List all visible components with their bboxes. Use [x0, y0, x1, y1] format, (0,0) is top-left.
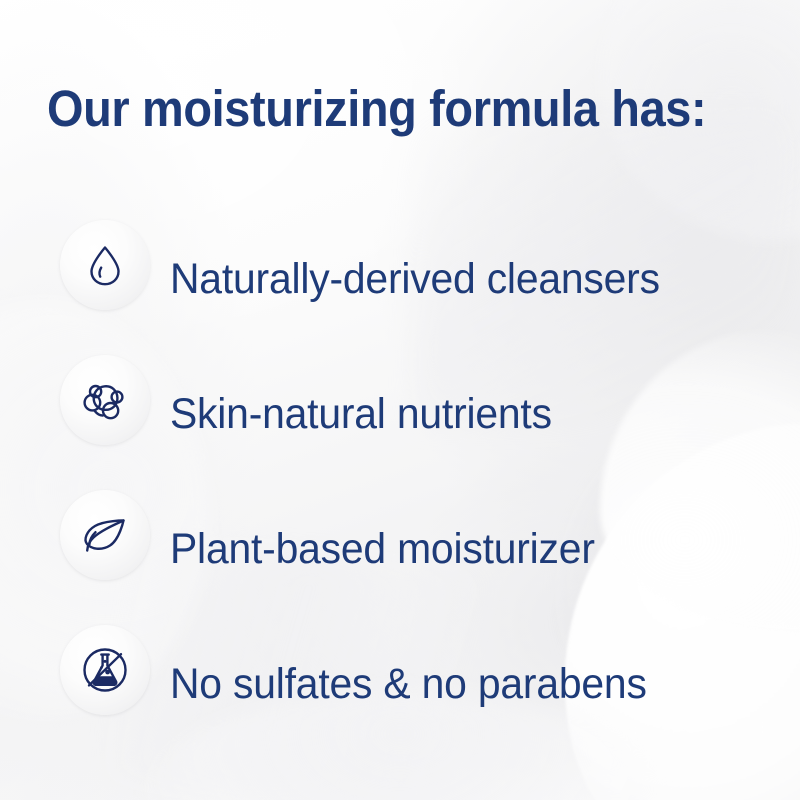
leaf-icon: [79, 513, 131, 557]
page-title: Our moisturizing formula has:: [47, 79, 706, 138]
icon-badge: [60, 625, 150, 715]
list-item: No sulfates & no parabens: [0, 617, 800, 752]
list-item-label: No sulfates & no parabens: [170, 660, 647, 709]
list-item: Plant-based moisturizer: [0, 482, 800, 617]
list-item: Skin-natural nutrients: [0, 347, 800, 482]
list-item-label: Naturally-derived cleansers: [170, 255, 660, 304]
poster-content: Our moisturizing formula has: Naturally-…: [0, 0, 800, 800]
list-item-label: Skin-natural nutrients: [170, 390, 552, 439]
product-benefits-poster: Our moisturizing formula has: Naturally-…: [0, 0, 800, 800]
benefits-list: Naturally-derived cleansers: [0, 212, 800, 752]
water-droplet-icon: [81, 241, 129, 289]
icon-badge: [60, 490, 150, 580]
list-item: Naturally-derived cleansers: [0, 212, 800, 347]
molecule-nutrient-icon: [79, 376, 131, 424]
no-chemicals-flask-icon: [79, 644, 131, 696]
list-item-label: Plant-based moisturizer: [170, 525, 595, 574]
icon-badge: [60, 355, 150, 445]
icon-badge: [60, 220, 150, 310]
